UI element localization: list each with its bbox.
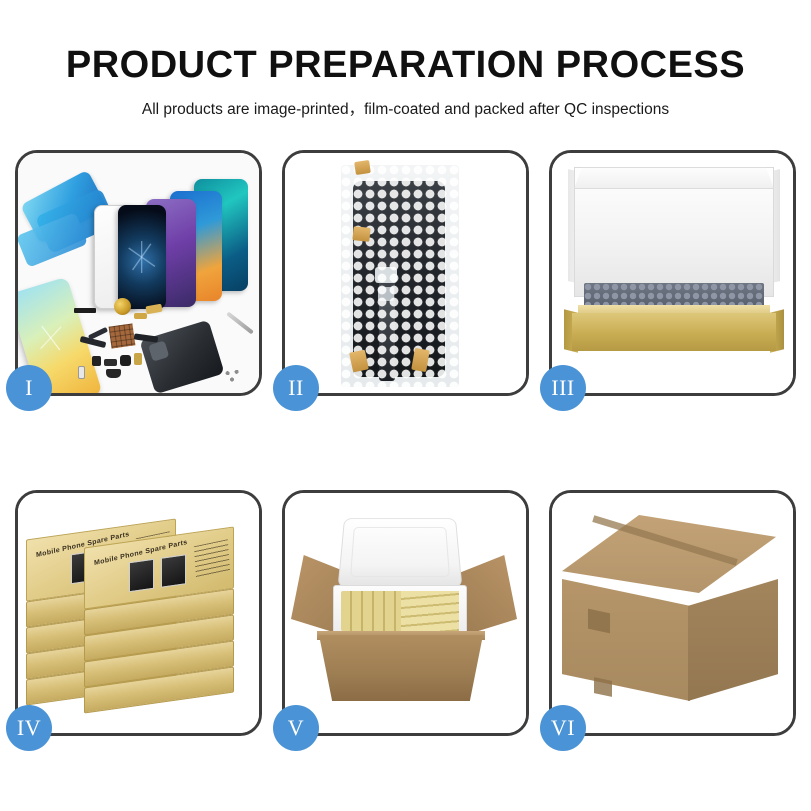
step-badge-3: III: [540, 365, 586, 411]
screws-icon: [224, 369, 242, 383]
sealed-carton-icon: [552, 493, 793, 733]
tweezers-icon: [226, 312, 254, 335]
product-preparation-process-infographic: PRODUCT PREPARATION PROCESS All products…: [0, 0, 811, 811]
small-part-icon: [106, 369, 121, 378]
process-steps-grid: I: [15, 150, 796, 736]
stacked-retail-boxes-icon: Mobile Phone Spare Parts Mobile Phone Sp…: [18, 493, 259, 733]
header: PRODUCT PREPARATION PROCESS All products…: [0, 46, 811, 119]
phone-back-housing-icon: [139, 320, 224, 393]
box-screen-image: [161, 554, 186, 588]
carton-body: [319, 635, 483, 701]
step-badge-1: I: [6, 365, 52, 411]
page-title: PRODUCT PREPARATION PROCESS: [0, 46, 811, 86]
small-part-icon: [134, 353, 142, 365]
open-mailer-box-icon: [552, 153, 793, 393]
step-6-image: [552, 493, 793, 733]
styrofoam-in-carton-icon: [285, 493, 526, 733]
chip-part-icon: [134, 313, 147, 319]
carton-top-face: [562, 515, 776, 593]
phone-parts-collage-icon: [18, 153, 259, 393]
process-step-panel-3: III: [549, 150, 796, 396]
step-4-image: Mobile Phone Spare Parts Mobile Phone Sp…: [18, 493, 259, 733]
step-1-image: [18, 153, 259, 393]
process-step-panel-2: II: [282, 150, 529, 396]
chip-part-icon: [145, 304, 162, 315]
small-part-icon: [92, 356, 101, 366]
carton-tape-patch: [594, 677, 612, 697]
step-badge-4: IV: [6, 705, 52, 751]
process-step-panel-5: V: [282, 490, 529, 736]
bubble-wrapped-screen-icon: [285, 153, 526, 393]
step-2-image: [285, 153, 526, 393]
step-badge-2: II: [273, 365, 319, 411]
box-screen-image: [129, 559, 154, 593]
box-lid-top-edge: [574, 167, 774, 189]
box-stack: Mobile Phone Spare Parts Mobile Phone Sp…: [22, 519, 256, 715]
box-base-front: [572, 313, 776, 351]
step-badge-5: V: [273, 705, 319, 751]
phone-cracked-screen-icon: [118, 205, 166, 309]
page-subtitle: All products are image-printed，film-coat…: [0, 97, 811, 119]
carton-front-face: [562, 579, 690, 701]
gold-coil-part-icon: [114, 298, 131, 315]
chip-part-icon: [74, 308, 96, 313]
carton-flap-right: [459, 555, 517, 637]
tape-piece-icon: [354, 160, 371, 175]
process-step-panel-4: Mobile Phone Spare Parts Mobile Phone Sp…: [15, 490, 262, 736]
step-5-image: [285, 493, 526, 733]
carton-side-face: [688, 579, 778, 701]
circuit-grid-board-icon: [109, 323, 136, 348]
process-step-panel-6: VI: [549, 490, 796, 736]
small-part-icon: [78, 366, 85, 379]
process-step-panel-1: I: [15, 150, 262, 396]
flex-cable-icon: [88, 327, 108, 340]
box-spec-lines: [194, 539, 230, 580]
small-part-icon: [120, 355, 131, 366]
small-part-icon: [104, 359, 117, 366]
styrofoam-lid-icon: [338, 518, 463, 587]
boxed-units-icon: [401, 591, 459, 631]
step-3-image: [552, 153, 793, 393]
tape-piece-icon: [352, 226, 370, 242]
step-badge-6: VI: [540, 705, 586, 751]
